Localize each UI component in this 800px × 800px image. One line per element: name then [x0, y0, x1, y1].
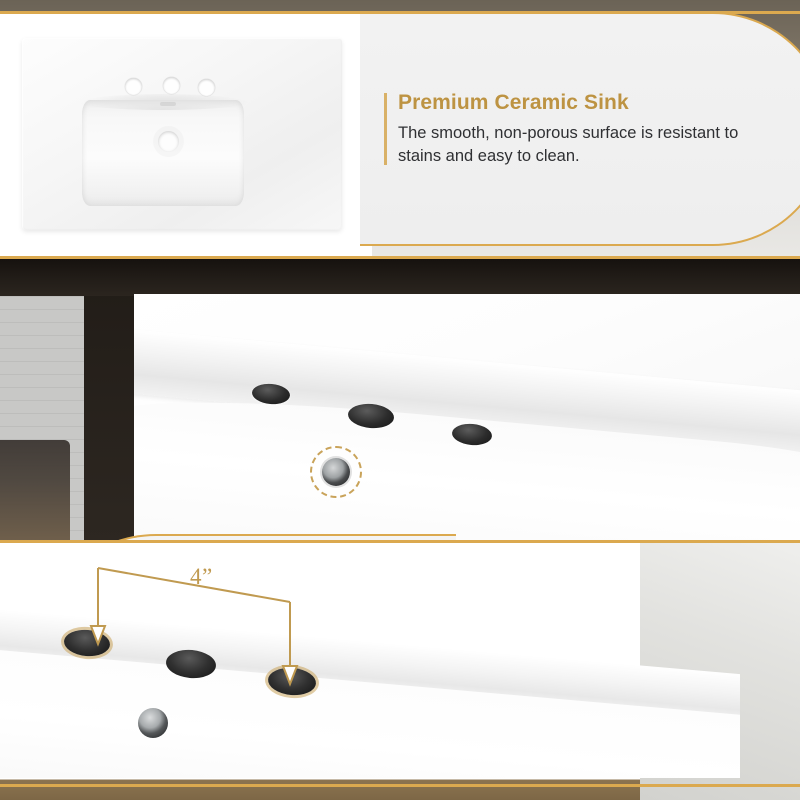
background-dark-band: [0, 258, 800, 296]
faucet-hole-right: [198, 79, 215, 96]
sink-basin: [82, 100, 244, 206]
feature-title-premium-ceramic-sink: Premium Ceramic Sink: [398, 91, 776, 115]
overflow-slot: [160, 102, 176, 106]
accent-bar-icon: [384, 93, 387, 165]
feature-description-premium-ceramic-sink: The smooth, non-porous surface is resist…: [398, 122, 776, 167]
basin-lip-shadow: [76, 94, 250, 114]
drain-hole: [158, 131, 179, 152]
product-infographic: Premium Ceramic Sink The smooth, non-por…: [0, 0, 800, 800]
overflow-highlight-ring-icon: [310, 446, 362, 498]
background-dark-column: [84, 288, 136, 542]
faucet-hole-left: [125, 78, 142, 95]
hole-spacing-label: 4”: [190, 564, 213, 590]
ceramic-sink-body: [22, 38, 342, 230]
feature-card-premium-ceramic-sink: Premium Ceramic Sink The smooth, non-por…: [360, 12, 800, 246]
hole-spacing-dimension-icon: [0, 546, 740, 778]
pre-drilled-holes-photo: 4”: [0, 546, 740, 778]
card-body: Premium Ceramic Sink The smooth, non-por…: [384, 91, 776, 167]
overflow-closeup-photo: [134, 294, 800, 542]
divider-bottom: [0, 784, 800, 787]
feature-panel-premium-ceramic-sink: Premium Ceramic Sink The smooth, non-por…: [0, 0, 800, 258]
feature-panel-three-pre-drilled-hole: 4” Three Pre-drilled Hole For easy fauce…: [0, 542, 800, 800]
divider-middle-2: [0, 540, 800, 543]
divider-middle-1: [0, 256, 800, 259]
sink-top-view-photo: [0, 12, 372, 258]
background-basket: [0, 440, 70, 542]
faucet-hole-center: [163, 77, 180, 94]
feature-panel-overflow-protection: Overflow Protection Equipped with an ove…: [0, 258, 800, 542]
divider-top: [0, 11, 800, 14]
